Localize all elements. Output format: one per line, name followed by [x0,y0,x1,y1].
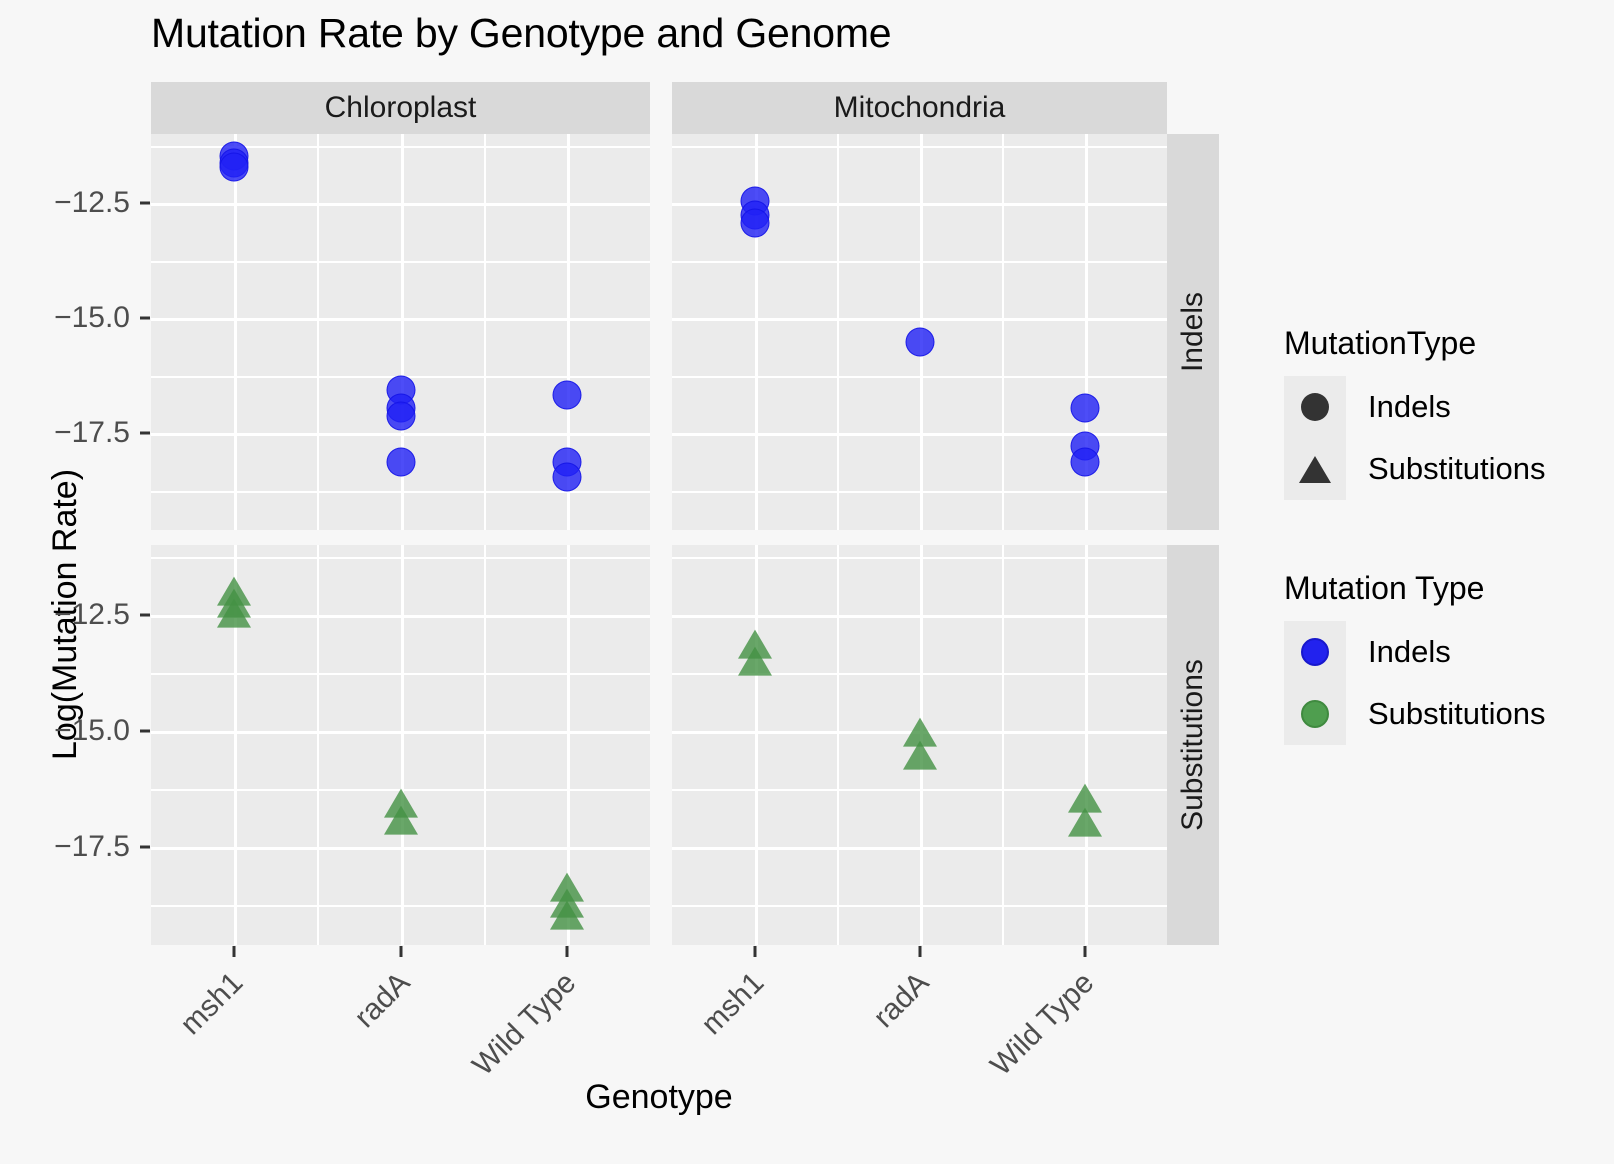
legend-item-substitutions[interactable]: Substitutions [1284,438,1546,500]
y-tick-label: −12.5 [10,186,130,220]
legend-item-label: Substitutions [1368,451,1546,487]
gridline-major-vertical [234,134,237,530]
x-tick-mark [918,946,921,957]
data-point-indels [220,153,249,182]
x-tick-mark [233,946,236,957]
data-point-indels [386,447,415,476]
facet-strip-row-indels: Indels [1167,134,1219,530]
x-tick-label: msh1 [695,966,771,1042]
gridline-minor-vertical [317,134,319,530]
y-tick-mark [140,202,150,205]
facet-strip-row-label: Indels [1176,292,1210,372]
legend-item-label: Indels [1368,634,1451,670]
legend-color: Mutation TypeIndelsSubstitutions [1284,570,1546,745]
x-tick-mark [565,946,568,957]
page-title: Mutation Rate by Genotype and Genome [151,10,891,57]
y-tick-mark [140,846,150,849]
legend-item-substitutions[interactable]: Substitutions [1284,683,1546,745]
data-point-substitutions [903,741,937,770]
gridline-minor-vertical [317,545,319,945]
legend-items: IndelsSubstitutions [1284,376,1546,500]
facet-strip-row-label: Substitutions [1176,659,1210,831]
x-axis-title: Genotype [0,1078,1318,1117]
y-tick-label: −17.5 [10,416,130,450]
legend-items: IndelsSubstitutions [1284,621,1546,745]
legend-item-label: Indels [1368,389,1451,425]
data-point-substitutions [550,901,584,930]
legend-item-label: Substitutions [1368,696,1546,732]
x-tick-label: msh1 [174,966,250,1042]
x-tick-mark [399,946,402,957]
legend-item-indels[interactable]: Indels [1284,376,1546,438]
data-point-indels [1070,447,1099,476]
data-point-indels [552,380,581,409]
facet-strip-col-mitochondria: Mitochondria [672,82,1167,134]
data-point-indels [1070,393,1099,422]
gridline-major-vertical [401,545,404,945]
x-tick-label: radA [867,966,936,1035]
chart-canvas: Mutation Rate by Genotype and Genome Log… [0,0,1614,1164]
circle-blue-icon [1301,638,1329,666]
x-tick-mark [1083,946,1086,957]
gridline-minor-vertical [837,545,839,945]
x-tick-label: Wild Type [984,966,1101,1083]
x-tick-mark [753,946,756,957]
circle-dark-icon [1301,393,1329,421]
y-tick-label: −15.0 [10,301,130,335]
gridline-minor-vertical [837,134,839,530]
x-tick-label: radA [348,966,417,1035]
data-point-indels [386,401,415,430]
x-tick-label: Wild Type [466,966,583,1083]
data-point-substitutions [738,646,772,675]
legend-key-swatch [1284,438,1346,500]
y-tick-mark [140,317,150,320]
legend-shape: MutationTypeIndelsSubstitutions [1284,325,1546,500]
gridline-minor-vertical [1002,545,1004,945]
y-tick-mark [140,730,150,733]
data-point-substitutions [1068,808,1102,837]
gridline-minor-vertical [1002,134,1004,530]
circle-green-icon [1301,700,1329,728]
legend-title: MutationType [1284,325,1546,362]
legend-key-swatch [1284,683,1346,745]
y-tick-mark [140,613,150,616]
y-tick-label: −17.5 [10,830,130,864]
data-point-indels [905,328,934,357]
y-tick-label: −15.0 [10,714,130,748]
legend-key-swatch [1284,621,1346,683]
y-tick-label: −12.5 [10,598,130,632]
data-point-substitutions [384,806,418,835]
legend-item-indels[interactable]: Indels [1284,621,1546,683]
gridline-major-vertical [1085,545,1088,945]
data-point-indels [552,463,581,492]
gridline-minor-vertical [484,545,486,945]
data-point-indels [740,209,769,238]
data-point-substitutions [217,598,251,627]
facet-strip-col-chloroplast: Chloroplast [151,82,650,134]
triangle-dark-icon [1299,456,1331,483]
facet-strip-row-substitutions: Substitutions [1167,545,1219,945]
gridline-major-vertical [755,545,758,945]
y-tick-mark [140,432,150,435]
legend-key-swatch [1284,376,1346,438]
gridline-minor-vertical [484,134,486,530]
legend-title: Mutation Type [1284,570,1546,607]
